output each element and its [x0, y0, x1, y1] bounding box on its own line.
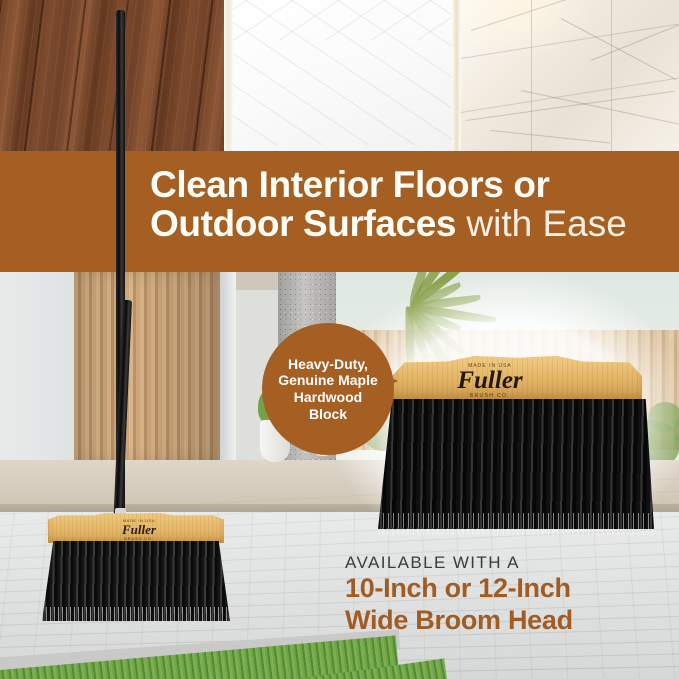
panel-divider-2: [452, 0, 461, 152]
panel-divider-1: [224, 0, 233, 152]
tile-grout-line: [325, 0, 452, 145]
broom-large-bristle-tips: [378, 513, 654, 535]
paver-joint-vertical: [0, 512, 15, 679]
headline-line-2-bold: Outdoor Surfaces: [150, 203, 456, 244]
tile-grout-line: [233, 0, 452, 145]
marble-vein: [491, 130, 610, 144]
tile-grout-line: [233, 0, 277, 145]
product-infographic: MADE IN USA Fuller BRUSH CO. MADE IN USA…: [0, 0, 679, 679]
headline-line-2-light: with Ease: [456, 203, 627, 244]
broom-large-company-label: BRUSH CO.: [425, 393, 555, 399]
broom-small-logo: MADE IN USA Fuller BRUSH CO.: [96, 518, 182, 541]
broom-small-bristle-tips: [42, 607, 230, 621]
tile-grout-line: [233, 0, 369, 145]
marble-grout-line: [611, 0, 612, 152]
broom-large-brand-label: Fuller: [425, 369, 555, 393]
callout-line-1: Heavy-Duty,: [288, 356, 368, 373]
headline-banner-text: Clean Interior Floors or Outdoor Surface…: [150, 165, 669, 243]
broom-small-company-label: BRUSH CO.: [96, 536, 182, 541]
callout-line-3: Hardwood: [294, 389, 362, 406]
callout-line-2: Genuine Maple: [278, 372, 378, 389]
interior-wall: [0, 272, 80, 467]
marble-highlight: [461, 0, 592, 61]
wall-gap: [220, 272, 236, 468]
top-floor-strip: [0, 0, 679, 152]
headline-line-2: Outdoor Surfaces with Ease: [150, 204, 669, 243]
callout-text: Heavy-Duty, Genuine Maple Hardwood Block: [262, 323, 394, 455]
floor-panel-white-tile: [233, 0, 452, 152]
broom-large-bristles: [378, 399, 654, 529]
headline-line-1: Clean Interior Floors or: [150, 165, 669, 204]
tile-grout-line: [233, 0, 452, 145]
slat-wall-shading: [74, 272, 220, 462]
size-availability-block: AVAILABLE WITH A 10-Inch or 12-Inch Wide…: [345, 552, 675, 636]
callout-line-4: Block: [309, 406, 347, 423]
broom-small: MADE IN USA Fuller BRUSH CO.: [40, 513, 232, 621]
marble-grout-line: [531, 0, 532, 152]
floor-panel-dark-hardwood: [0, 0, 224, 152]
broom-large-logo: MADE IN USA Fuller BRUSH CO.: [425, 363, 555, 399]
size-headline-line-2: Wide Broom Head: [345, 605, 675, 636]
broom-small-brand-label: Fuller: [96, 523, 182, 536]
floor-panel-marble: [461, 0, 679, 152]
size-headline-line-1: 10-Inch or 12-Inch: [345, 573, 675, 604]
feature-callout-badge: Heavy-Duty, Genuine Maple Hardwood Block: [262, 323, 394, 455]
headline-banner: Clean Interior Floors or Outdoor Surface…: [0, 151, 679, 272]
availability-eyebrow: AVAILABLE WITH A: [345, 552, 675, 573]
